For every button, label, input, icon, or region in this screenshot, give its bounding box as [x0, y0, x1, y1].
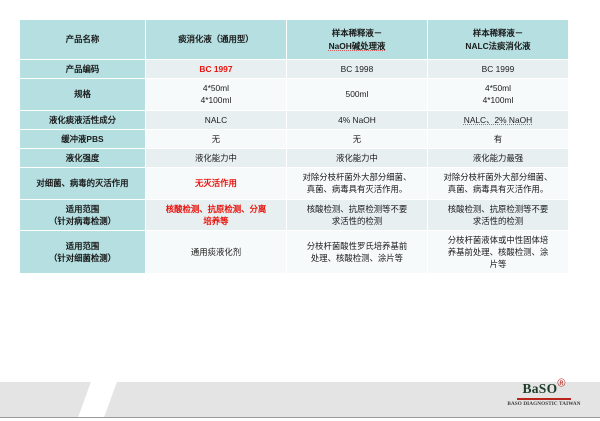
row-label-liquefaction-strength: 液化强度	[20, 149, 145, 167]
header-cell-col1: 痰消化液（通用型）	[146, 20, 286, 59]
row-label-buffer-pbs: 缓冲液PBS	[20, 130, 145, 148]
cell-pbs-col3: 有	[428, 130, 568, 148]
table-row: 对细菌、病毒的灭活作用 无灭活作用 对除分枝杆菌外大部分细菌、 真菌、病毒具有灭…	[20, 168, 568, 198]
cell-scope-virus-col1: 核酸检测、抗原检测、分离 培养等	[146, 200, 286, 230]
registered-mark-icon: ®	[557, 378, 565, 390]
cell-scope-bacteria-col3: 分枝杆菌液体或中性固体培 养基前处理、核酸检测、涂 片等	[428, 231, 568, 274]
cell-strength-col3: 液化能力最强	[428, 149, 568, 167]
table-row: 缓冲液PBS 无 无 有	[20, 130, 568, 148]
cell-ingredient-col1: NALC	[146, 111, 286, 129]
cell-ingredient-col2: 4% NaOH	[287, 111, 427, 129]
table-row: 适用范围 （针对细菌检测） 通用痰液化剂 分枝杆菌酸性罗氏培养基前 处理、核酸检…	[20, 231, 568, 274]
cell-spec-col1: 4*50ml 4*100ml	[146, 79, 286, 109]
table-row: 液化强度 液化能力中 液化能力中 液化能力最强	[20, 149, 568, 167]
cell-pbs-col2: 无	[287, 130, 427, 148]
cell-scope-virus-col2: 核酸检测、抗原检测等不要 求活性的检测	[287, 200, 427, 230]
cell-strength-col1: 液化能力中	[146, 149, 286, 167]
brand-underline-rule	[517, 398, 571, 400]
cell-spec-col3: 4*50ml 4*100ml	[428, 79, 568, 109]
table-row: 液化痰液活性成分 NALC 4% NaOH NALC、2% NaOH	[20, 111, 568, 129]
slide-canvas: 产品名称 痰消化液（通用型） 样本稀释液－ NaOH碱处理液 样本稀释液－ NA…	[0, 0, 600, 421]
footer-swoosh-decoration	[72, 382, 122, 418]
table-row: 产品编码 BC 1997 BC 1998 BC 1999	[20, 60, 568, 78]
cell-scope-bacteria-col2: 分枝杆菌酸性罗氏培养基前 处理、核酸检测、涂片等	[287, 231, 427, 274]
cell-scope-virus-col3: 核酸检测、抗原检测等不要 求活性的检测	[428, 200, 568, 230]
row-label-scope-virus: 适用范围 （针对病毒检测）	[20, 200, 145, 230]
brand-logo: BaSO® BASO DIAGNOSTIC TAIWAN	[496, 381, 592, 407]
cell-scope-bacteria-col1: 通用痰液化剂	[146, 231, 286, 274]
row-label-scope-bacteria: 适用范围 （针对细菌检测）	[20, 231, 145, 274]
brand-wordmark: BaSO	[522, 382, 557, 396]
cell-pbs-col1: 无	[146, 130, 286, 148]
row-label-specification: 规格	[20, 79, 145, 109]
table-header-row: 产品名称 痰消化液（通用型） 样本稀释液－ NaOH碱处理液 样本稀释液－ NA…	[20, 20, 568, 59]
footer-divider-line	[0, 417, 600, 418]
cell-ingredient-col3: NALC、2% NaOH	[428, 111, 568, 129]
header-cell-product-name: 产品名称	[20, 20, 145, 59]
table-row: 适用范围 （针对病毒检测） 核酸检测、抗原检测、分离 培养等 核酸检测、抗原检测…	[20, 200, 568, 230]
cell-code-col1: BC 1997	[146, 60, 286, 78]
cell-inactivation-col3: 对除分枝杆菌外大部分细菌、 真菌、病毒具有灭活作用。	[428, 168, 568, 198]
row-label-inactivation-effect: 对细菌、病毒的灭活作用	[20, 168, 145, 198]
table-row: 规格 4*50ml 4*100ml 500ml 4*50ml 4*100ml	[20, 79, 568, 109]
cell-strength-col2: 液化能力中	[287, 149, 427, 167]
brand-tagline: BASO DIAGNOSTIC TAIWAN	[496, 402, 592, 407]
header-cell-col2: 样本稀释液－ NaOH碱处理液	[287, 20, 427, 59]
cell-inactivation-col2: 对除分枝杆菌外大部分细菌、 真菌、病毒具有灭活作用。	[287, 168, 427, 198]
row-label-product-code: 产品编码	[20, 60, 145, 78]
product-comparison-table: 产品名称 痰消化液（通用型） 样本稀释液－ NaOH碱处理液 样本稀释液－ NA…	[19, 19, 569, 274]
cell-inactivation-col1: 无灭活作用	[146, 168, 286, 198]
row-label-active-ingredient: 液化痰液活性成分	[20, 111, 145, 129]
cell-code-col2: BC 1998	[287, 60, 427, 78]
brand-wordmark-row: BaSO®	[496, 381, 592, 397]
cell-spec-col2: 500ml	[287, 79, 427, 109]
cell-code-col3: BC 1999	[428, 60, 568, 78]
header-cell-col3: 样本稀释液－ NALC法痰消化液	[428, 20, 568, 59]
